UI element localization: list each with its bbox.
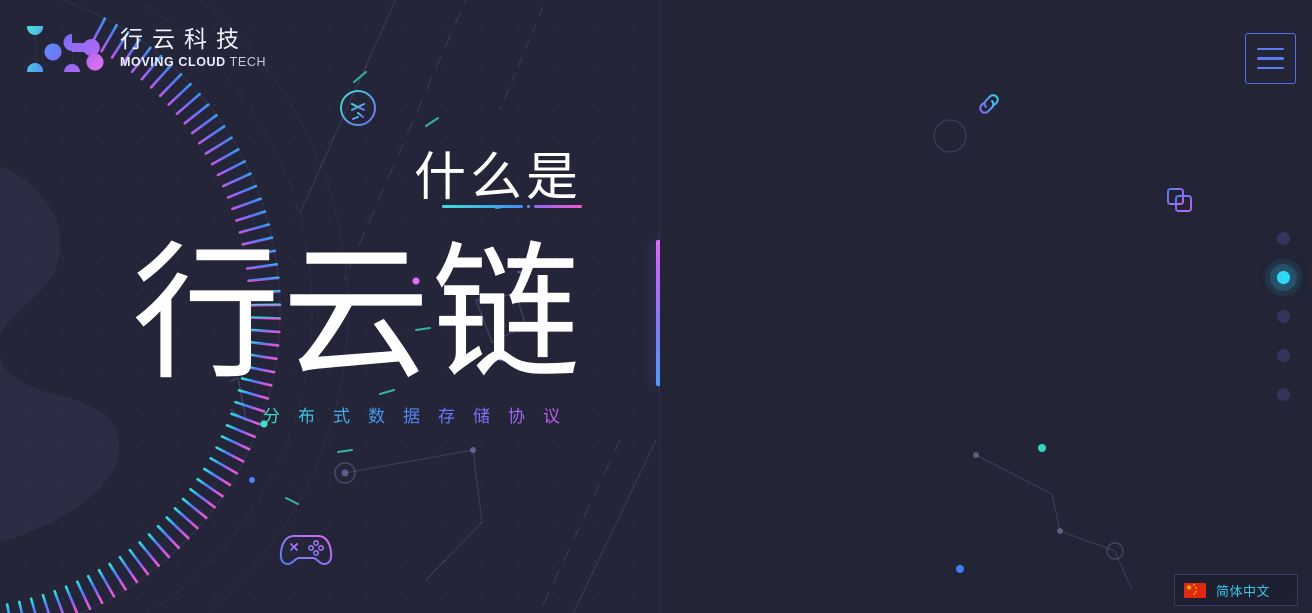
hero-subtitle: 分布式数据存储协议 bbox=[263, 402, 578, 427]
hero-title: 行云链 bbox=[132, 240, 582, 391]
language-label: 简体中文 bbox=[1216, 581, 1270, 600]
pagination-dots[interactable] bbox=[1272, 232, 1294, 427]
pagination-dot-active[interactable] bbox=[1277, 271, 1290, 284]
hero-underline-decoration bbox=[442, 205, 582, 208]
language-selector[interactable]: ★ ★ ★ ★ ★ 简体中文 bbox=[1174, 574, 1298, 606]
link-chain-icon bbox=[975, 90, 1003, 118]
copy-layers-icon bbox=[1165, 186, 1195, 216]
menu-bar-3 bbox=[1257, 67, 1284, 69]
pagination-dot[interactable] bbox=[1277, 232, 1290, 245]
pagination-dot[interactable] bbox=[1277, 349, 1290, 362]
content-panel: 行云链定义 行云链是一种基于区块链技术的分布式数据存储协议。开发团队力图打造一个… bbox=[660, 0, 1312, 613]
hamburger-menu-icon[interactable] bbox=[1245, 33, 1296, 84]
hero-content: 什么是 行云链 分布式数据存储协议 bbox=[0, 0, 660, 613]
china-flag-icon: ★ ★ ★ ★ ★ bbox=[1184, 583, 1206, 598]
hero-panel: 行云科技 MOVING CLOUD TECH bbox=[0, 0, 660, 613]
menu-bar-1 bbox=[1257, 48, 1284, 50]
hero-pre-title: 什么是 bbox=[414, 152, 582, 204]
pagination-dot[interactable] bbox=[1277, 388, 1290, 401]
menu-bar-2 bbox=[1257, 57, 1284, 59]
pagination-dot[interactable] bbox=[1277, 310, 1290, 323]
landing-page: 行云科技 MOVING CLOUD TECH bbox=[0, 0, 1312, 613]
